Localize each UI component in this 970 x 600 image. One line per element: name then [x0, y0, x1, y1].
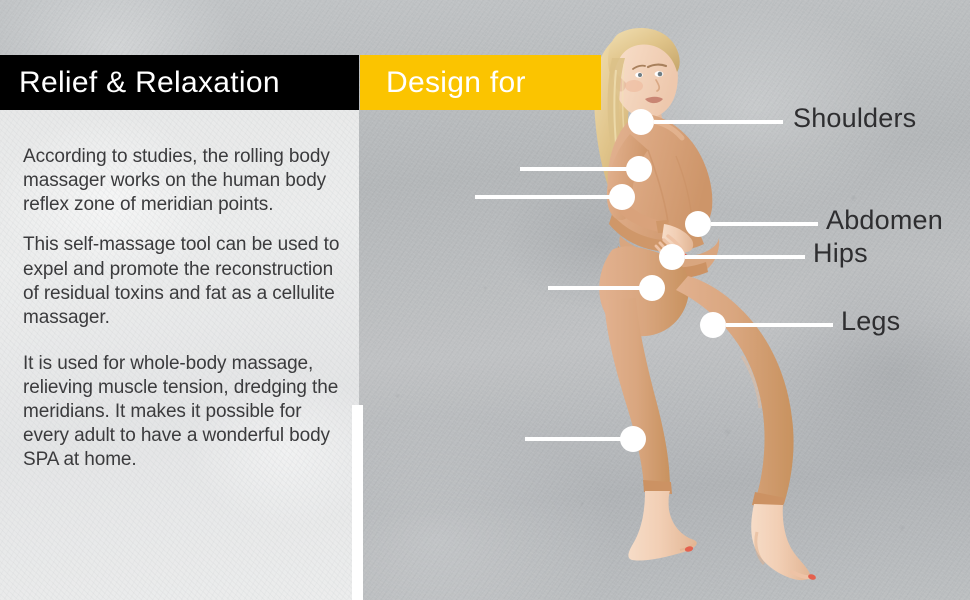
marker-dot-back: [626, 156, 652, 182]
callout-label-abdomen: Abdomen: [826, 205, 943, 236]
relief-relaxation-title: Relief & Relaxation: [0, 66, 280, 100]
paragraph-2: This self-massage tool can be used to ex…: [23, 233, 345, 330]
relief-relaxation-header-bar: Relief & Relaxation: [0, 55, 359, 110]
callout-label-shoulders: Shoulders: [793, 103, 916, 134]
panel-edge-strip: [352, 405, 363, 600]
leader-line-back: [520, 167, 639, 171]
leader-line-abdomen: [711, 222, 818, 226]
leader-line-arms: [475, 195, 622, 199]
design-for-header-bar: Design for: [360, 55, 601, 110]
promo-banner: Relief & Relaxation Design for According…: [0, 0, 970, 600]
leader-line-hips: [685, 255, 805, 259]
paragraph-3: It is used for whole-body massage, relie…: [23, 352, 345, 473]
leader-line-thighs: [548, 286, 652, 290]
leader-line-shoulders: [654, 120, 783, 124]
body-copy: According to studies, the rolling body m…: [23, 145, 345, 473]
marker-dot-arms: [609, 184, 635, 210]
leader-line-legs: [726, 323, 833, 327]
design-for-title: Design for: [360, 66, 526, 100]
marker-dot-hips: [659, 244, 685, 270]
marker-dot-legs: [700, 312, 726, 338]
callout-label-legs: Legs: [841, 306, 900, 337]
marker-dot-shoulders: [628, 109, 654, 135]
marker-dot-thighs: [639, 275, 665, 301]
model-figure: [594, 28, 817, 581]
callout-label-hips: Hips: [813, 238, 868, 269]
paragraph-1: According to studies, the rolling body m…: [23, 145, 345, 217]
marker-dot-abdomen: [685, 211, 711, 237]
leader-line-calves: [525, 437, 633, 441]
marker-dot-calves: [620, 426, 646, 452]
